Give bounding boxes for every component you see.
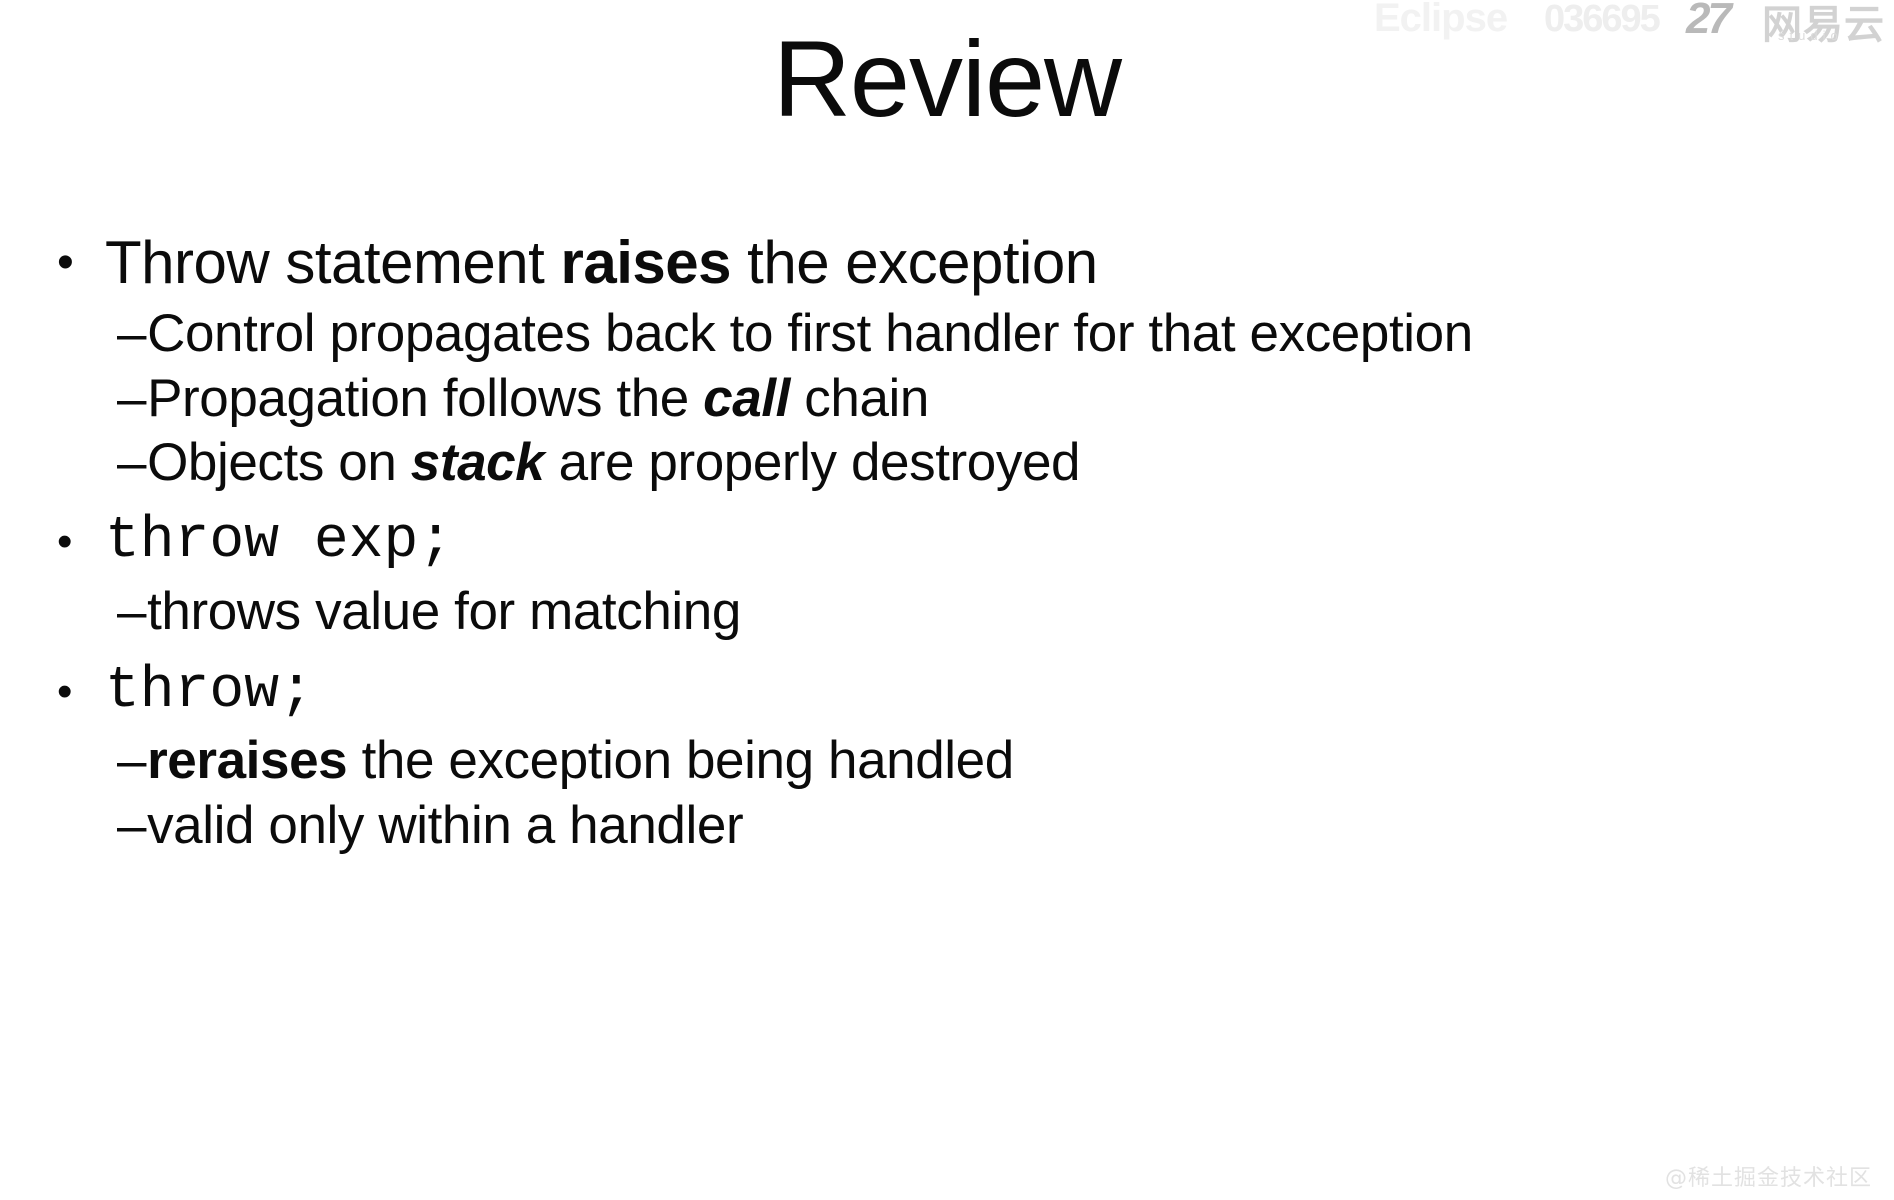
slide-title: Review bbox=[0, 22, 1894, 135]
bullet-level2-throws-value-for-matching: –throws value for matching bbox=[0, 582, 1585, 642]
bullet-run-bold: raises bbox=[561, 229, 732, 296]
bullet-code-text: throw; bbox=[105, 659, 314, 724]
bullet-marker-dash-icon: – bbox=[117, 369, 147, 428]
bullet-marker-dot-icon: • bbox=[57, 228, 73, 298]
bullet-text: throws value for matching bbox=[147, 582, 741, 641]
bullet-marker-dash-icon: – bbox=[117, 304, 147, 363]
bullet-run-text: the exception bbox=[731, 229, 1098, 296]
bullet-level1-throw-statement: •Throw statement raises the exception bbox=[0, 228, 1894, 298]
bullet-marker-dot-icon: • bbox=[57, 657, 72, 727]
bullet-run-text: Throw statement bbox=[105, 229, 561, 296]
bullet-run-bold: reraises bbox=[147, 731, 347, 790]
bullet-level1-throw-exp-code: •throw exp; bbox=[0, 507, 1894, 578]
bullet-level1-throw-code: •throw; bbox=[0, 657, 1894, 728]
bullet-marker-dash-icon: – bbox=[117, 796, 147, 855]
bullet-marker-dash-icon: – bbox=[117, 433, 147, 492]
bullet-text: Control propagates back to first handler… bbox=[147, 304, 1473, 363]
bullet-run-text: Propagation follows the bbox=[147, 369, 703, 428]
bullet-level2-valid-only-within-handler: –valid only within a handler bbox=[0, 796, 1585, 856]
bullet-marker-dot-icon: • bbox=[57, 507, 72, 577]
bullet-level2-objects-on-stack: –Objects on stack are properly destroyed bbox=[0, 433, 1585, 493]
bullet-run-text: Objects on bbox=[147, 433, 411, 492]
bullet-run-bold-italic: call bbox=[703, 369, 790, 428]
slide-canvas: Eclipse 036695 27 网易云 studio Review •Thr… bbox=[0, 0, 1894, 1200]
bullet-level2-reraises-exception: –reraises the exception being handled bbox=[0, 731, 1585, 791]
bullet-code-text: throw exp; bbox=[105, 509, 453, 574]
bullet-run-text: are properly destroyed bbox=[544, 433, 1080, 492]
bullet-run-bold-italic: stack bbox=[411, 433, 545, 492]
watermark-bottom-right: @稀土掘金技术社区 bbox=[1665, 1160, 1872, 1192]
bullet-run-text: chain bbox=[790, 369, 929, 428]
bullet-text: valid only within a handler bbox=[147, 796, 743, 855]
bullet-text: Throw statement raises the exception bbox=[105, 229, 1098, 296]
bullet-marker-dash-icon: – bbox=[117, 582, 147, 641]
bullet-run-text: the exception being handled bbox=[347, 731, 1014, 790]
bullet-level2-control-propagates: –Control propagates back to first handle… bbox=[0, 304, 1585, 364]
slide-body: •Throw statement raises the exception –C… bbox=[0, 228, 1894, 858]
bullet-level2-propagation-call-chain: –Propagation follows the call chain bbox=[0, 369, 1585, 429]
bullet-marker-dash-icon: – bbox=[117, 731, 147, 790]
